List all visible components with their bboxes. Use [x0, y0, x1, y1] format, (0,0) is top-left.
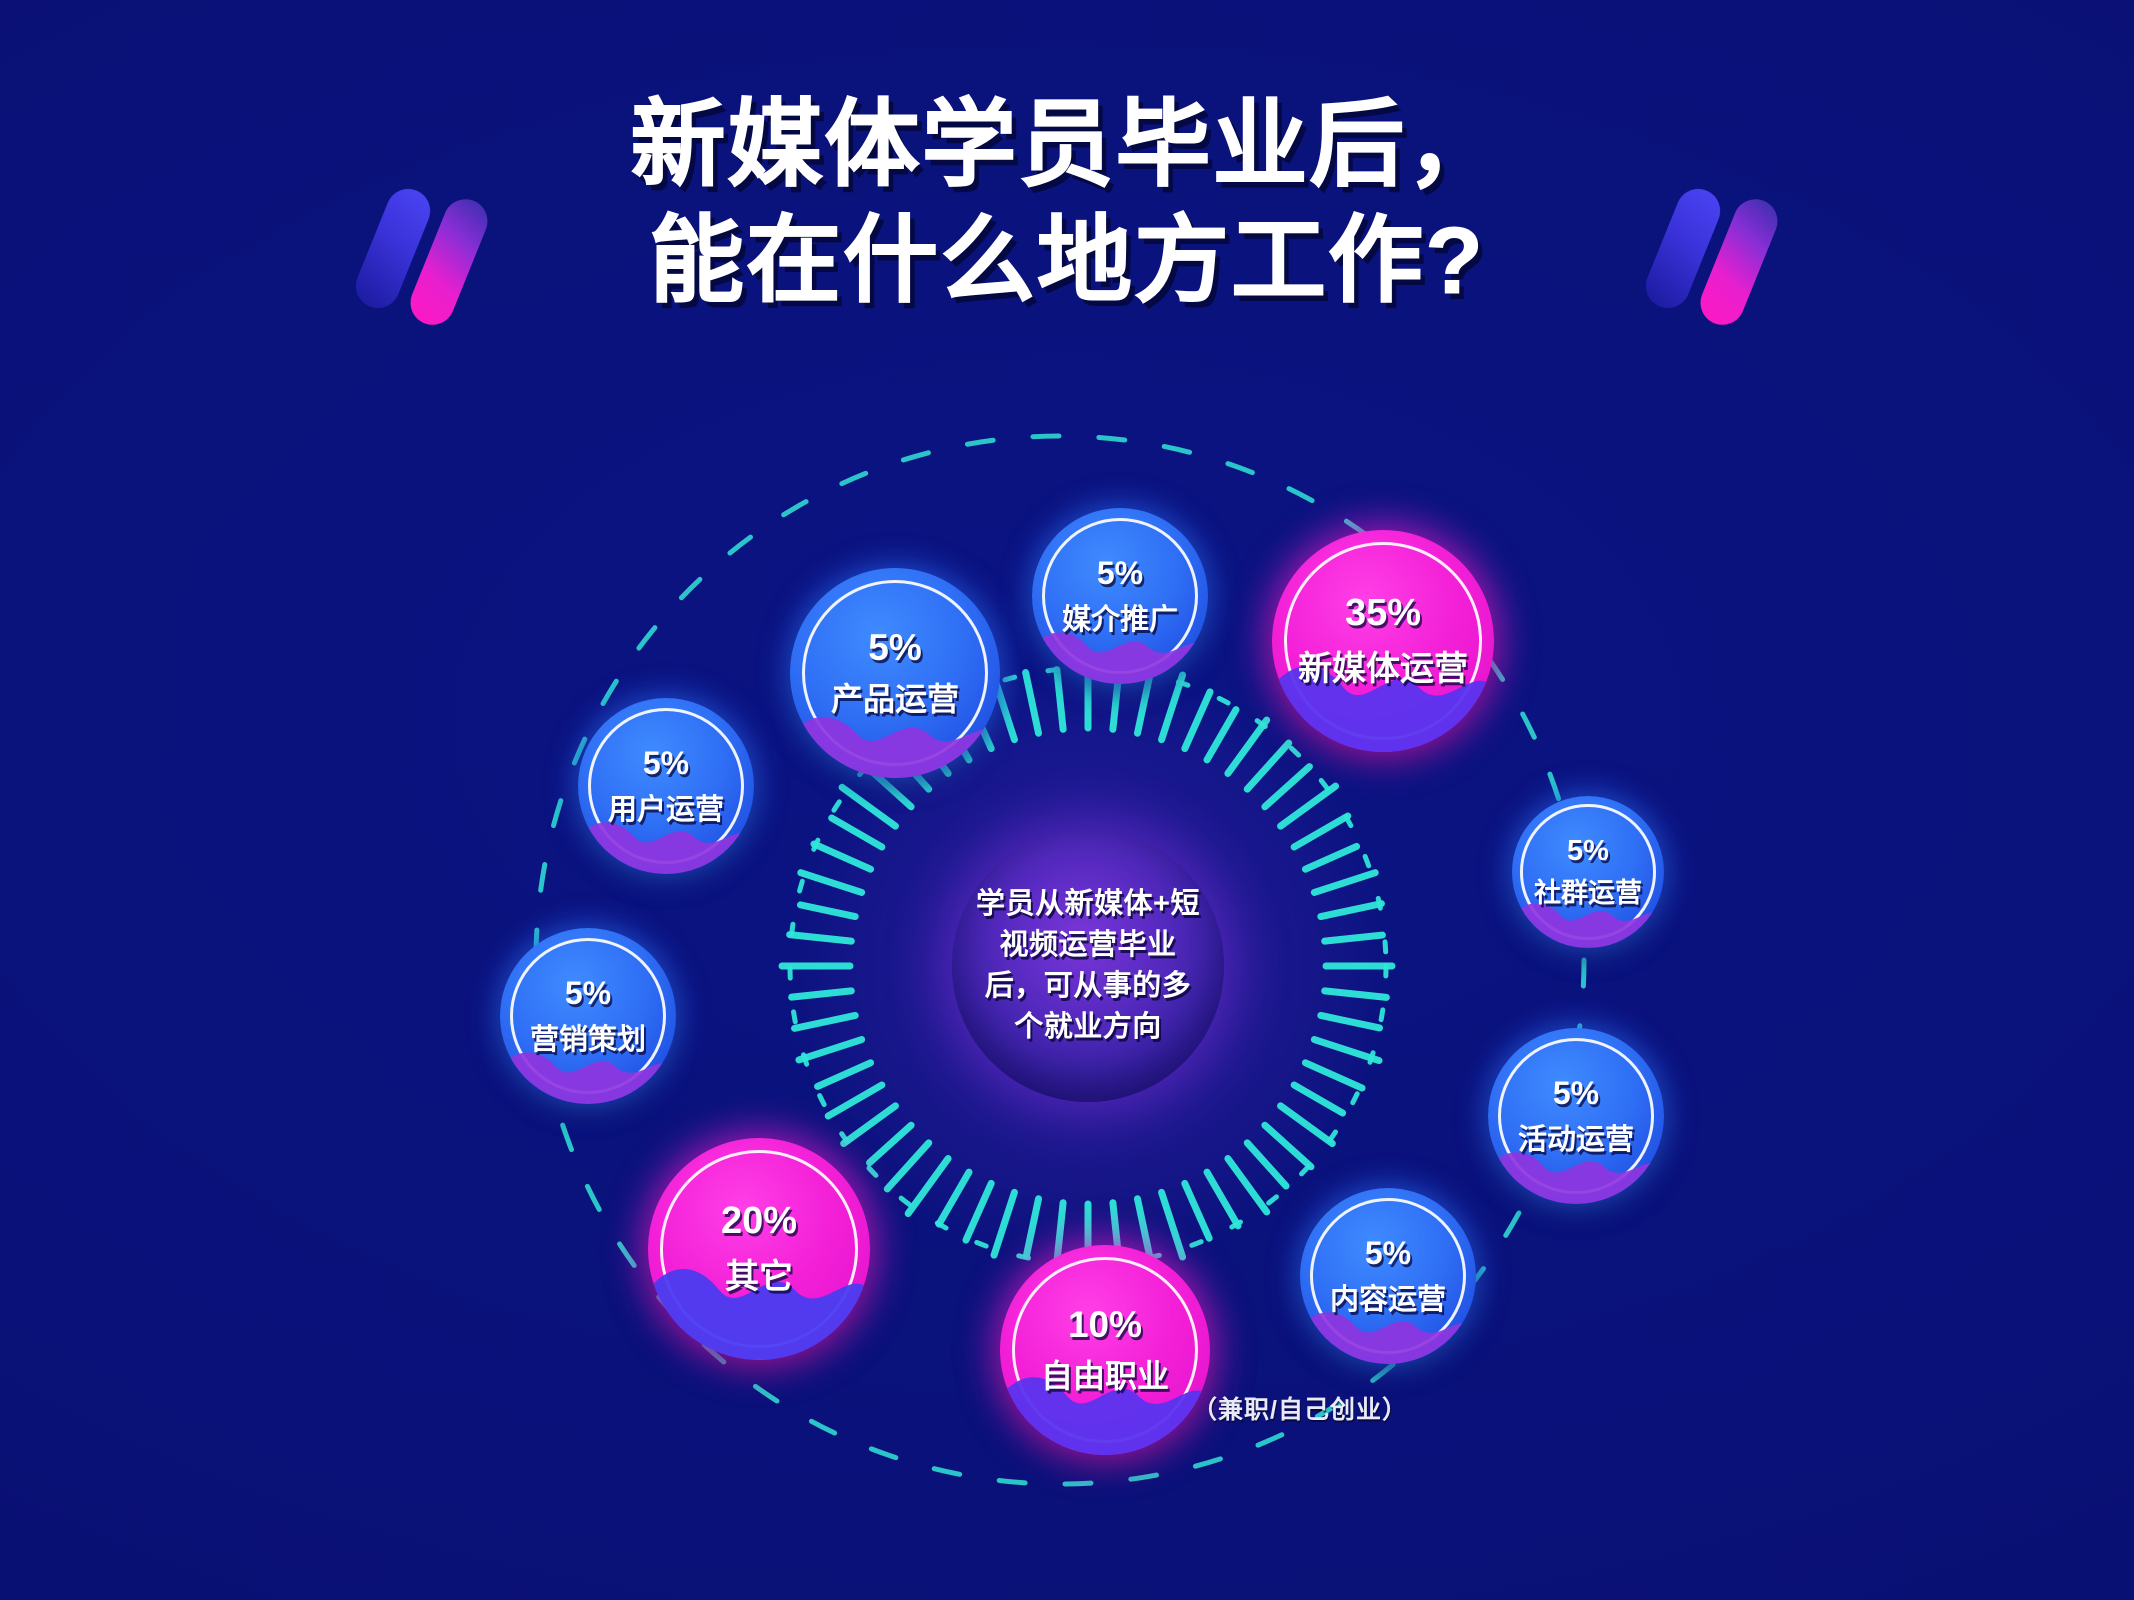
node-percent: 5% [1567, 835, 1609, 868]
node-label: 社群运营 [1534, 871, 1642, 910]
node-label: 活动运营 [1518, 1116, 1634, 1158]
node-marketing-planning[interactable]: 5% 营销策划 [500, 928, 676, 1104]
freelance-note: （兼职/自己创业） [1192, 1390, 1408, 1426]
node-percent: 5% [1365, 1235, 1411, 1272]
node-label: 内容运营 [1330, 1276, 1446, 1318]
node-content-operations[interactable]: 5% 内容运营 [1300, 1188, 1476, 1364]
center-hub: 学员从新媒体+短视频运营毕业后，可从事的多个就业方向 [952, 830, 1224, 1102]
node-new-media-operations[interactable]: 35% 新媒体运营 [1272, 530, 1494, 752]
node-percent: 5% [868, 627, 921, 669]
node-percent: 5% [1553, 1075, 1599, 1112]
node-percent: 20% [721, 1200, 797, 1243]
node-label: 新媒体运营 [1298, 641, 1468, 690]
node-user-operations[interactable]: 5% 用户运营 [578, 698, 754, 874]
node-label: 用户运营 [608, 786, 724, 828]
node-freelance[interactable]: 10% 自由职业 [1000, 1245, 1210, 1455]
node-percent: 10% [1068, 1304, 1142, 1346]
node-percent: 5% [1097, 555, 1143, 592]
node-label: 营销策划 [530, 1016, 646, 1058]
node-label: 其它 [725, 1249, 793, 1298]
node-label: 产品运营 [831, 674, 959, 720]
node-percent: 35% [1345, 592, 1421, 635]
node-percent: 5% [565, 975, 611, 1012]
node-label: 自由职业 [1041, 1351, 1169, 1397]
node-label: 媒介推广 [1062, 596, 1178, 638]
node-event-operations[interactable]: 5% 活动运营 [1488, 1028, 1664, 1204]
node-community-operations[interactable]: 5% 社群运营 [1512, 796, 1664, 948]
node-percent: 5% [643, 745, 689, 782]
node-others[interactable]: 20% 其它 [648, 1138, 870, 1360]
diagram-stage: 学员从新媒体+短视频运营毕业后，可从事的多个就业方向 5% 媒介推广 35% 新… [0, 0, 2134, 1600]
center-hub-text: 学员从新媒体+短视频运营毕业后，可从事的多个就业方向 [973, 884, 1203, 1049]
node-media-promotion[interactable]: 5% 媒介推广 [1032, 508, 1208, 684]
node-product-operations[interactable]: 5% 产品运营 [790, 568, 1000, 778]
